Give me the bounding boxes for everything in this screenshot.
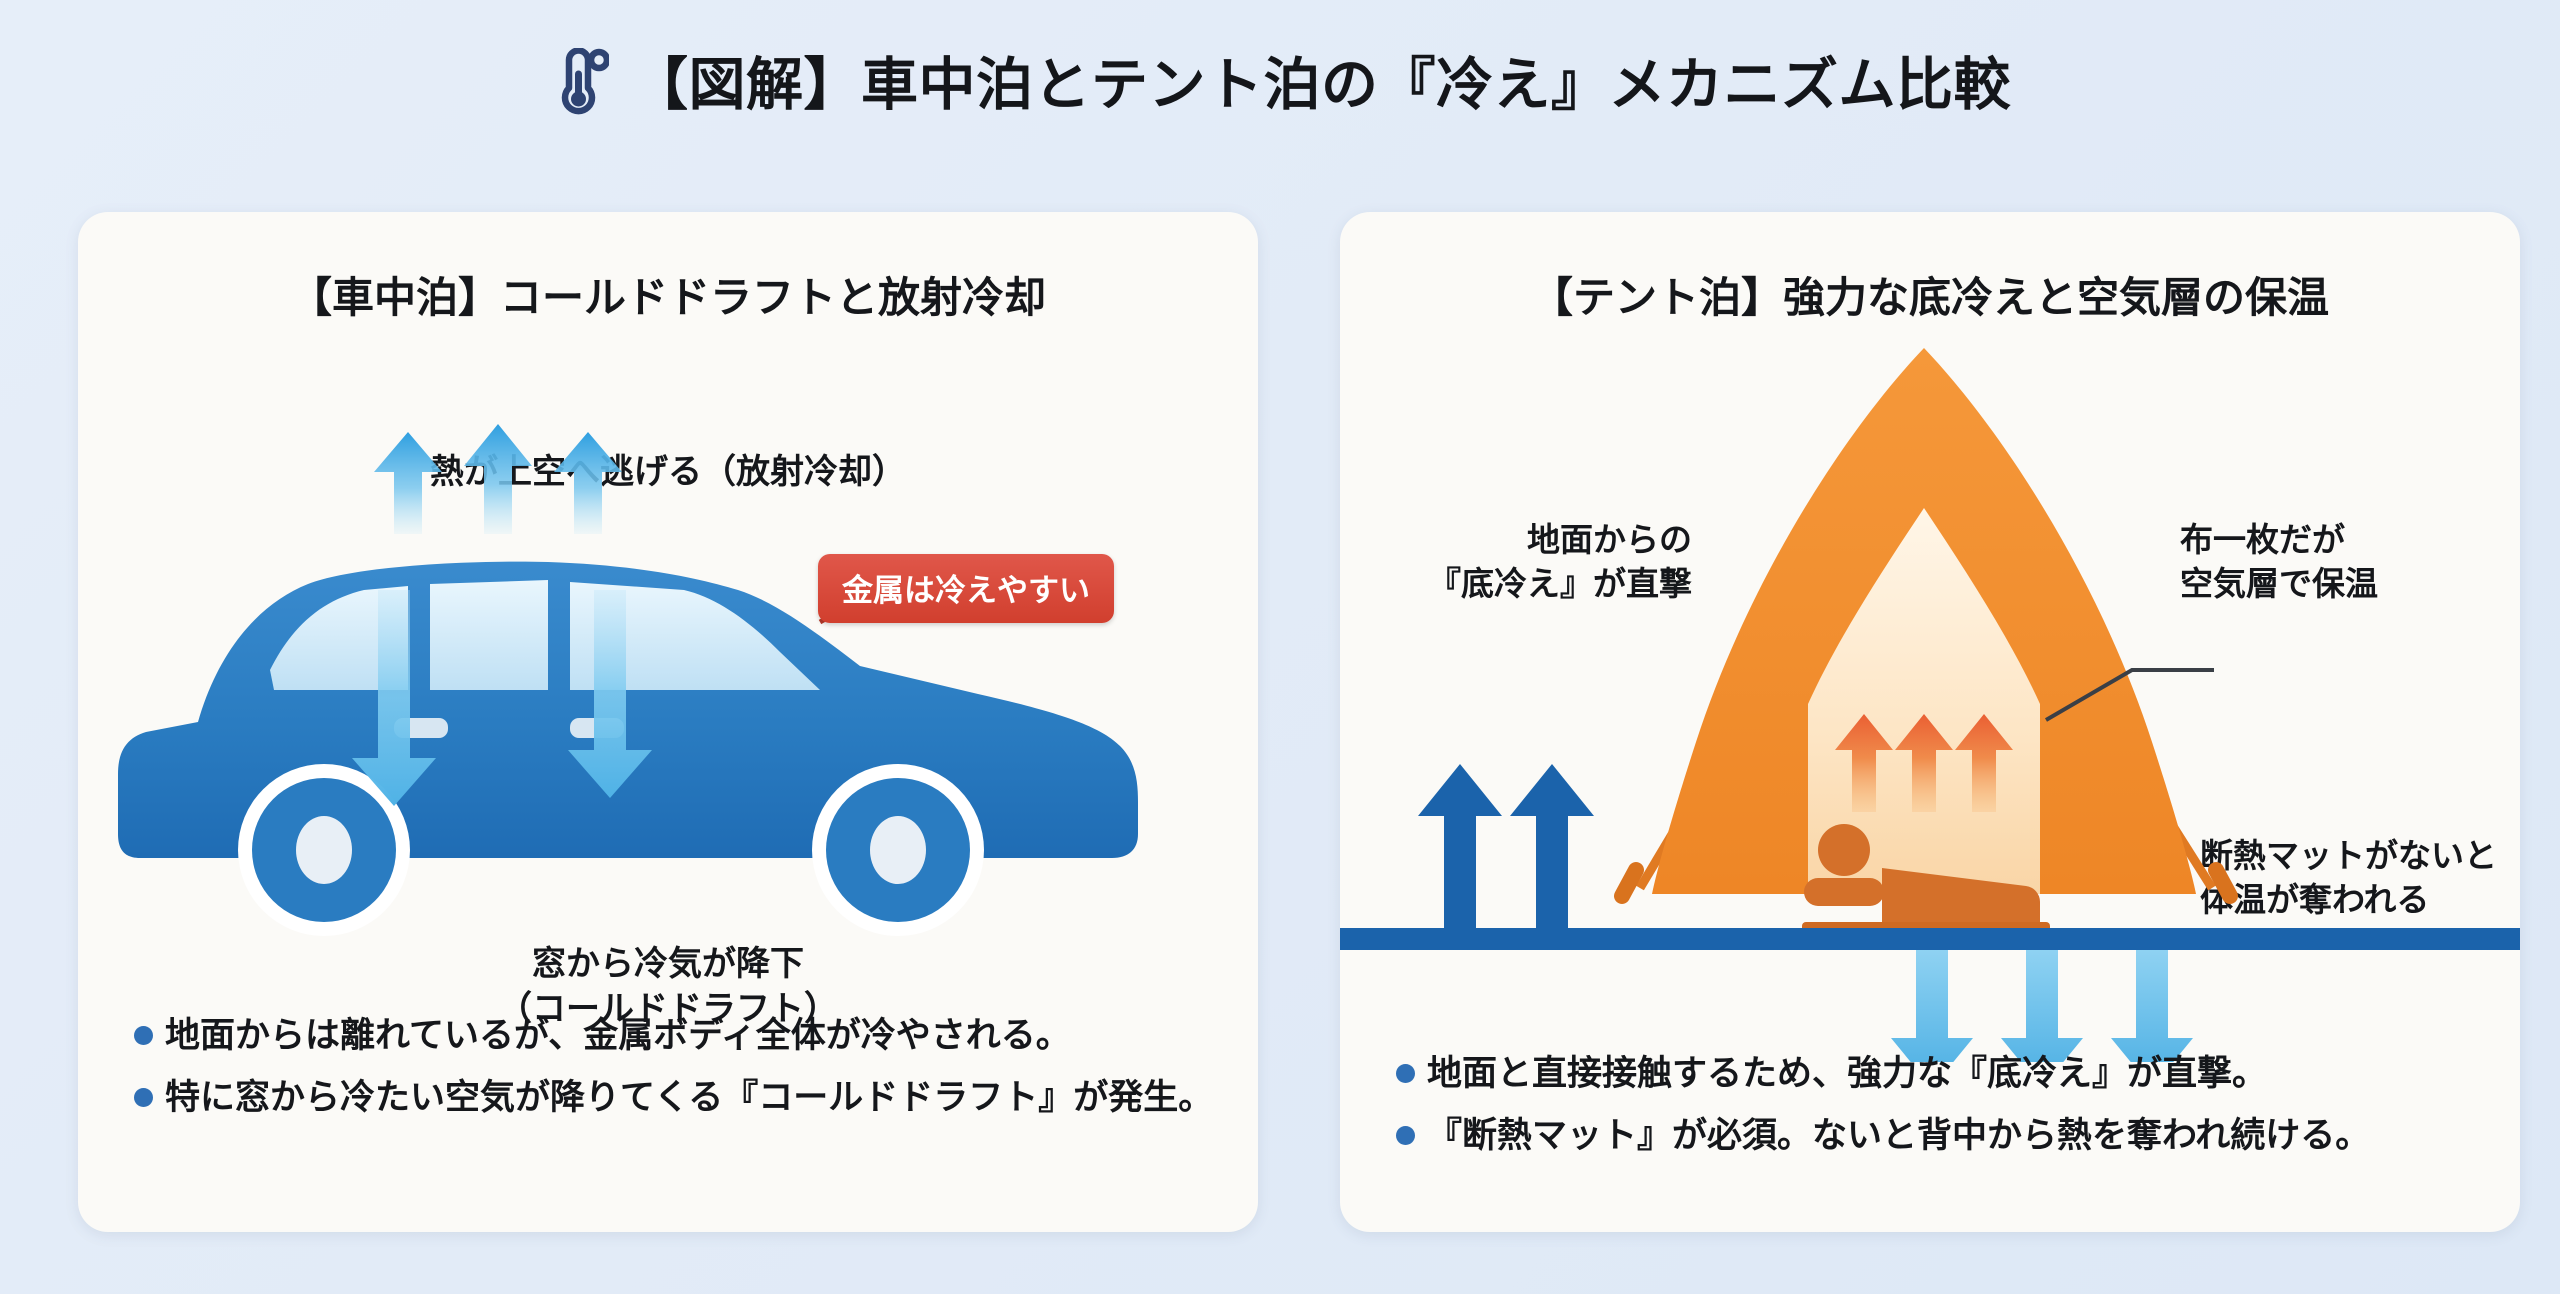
card-car-title: 【車中泊】コールドドラフトと放射冷却 — [78, 264, 1258, 325]
list-item: 特に窓から冷たい空気が降りてくる『コールドドラフト』が発生。 — [134, 1074, 1214, 1122]
heat-escape-arrows — [374, 424, 622, 534]
car-illustration — [78, 322, 1258, 1002]
card-tent-title: 【テント泊】強力な底冷えと空気層の保温 — [1340, 264, 2520, 325]
metal-cools-badge: 金属は冷えやすい — [818, 554, 1114, 623]
bullet-dot-icon — [1396, 1064, 1415, 1083]
tent-bullet-list: 地面と直接接触するため、強力な『底冷え』が直撃。 『断熱マット』が必須。ないと背… — [1396, 1050, 2476, 1173]
tent-illustration — [1340, 322, 2520, 1062]
list-item: 『断熱マット』が必須。ないと背中から熱を奪われ続ける。 — [1396, 1112, 2476, 1160]
bullet-text: 『断熱マット』が必須。ないと背中から熱を奪われ続ける。 — [1427, 1112, 2370, 1160]
tent-peg-right — [2216, 870, 2230, 896]
car-bullet-list: 地面からは離れているが、金属ボディ全体が冷やされる。 特に窓から冷たい空気が降り… — [134, 1012, 1214, 1135]
infographic-page: 【図解】車中泊とテント泊の『冷え』メカニズム比較 【車中泊】コールドドラフトと放… — [0, 0, 2560, 1294]
list-item: 地面と直接接触するため、強力な『底冷え』が直撃。 — [1396, 1050, 2476, 1098]
tent-peg-left — [1622, 870, 1636, 896]
warm-air-arrows — [1835, 714, 2013, 812]
tent-cold-diagram: 地面からの 『底冷え』が直撃 布一枚だが 空気層で保温 断熱マットがないと 体温… — [1340, 322, 2520, 1062]
ground-chill-arrows — [1418, 764, 1594, 928]
bullet-dot-icon — [134, 1026, 153, 1045]
list-item: 地面からは離れているが、金属ボディ全体が冷やされる。 — [134, 1012, 1214, 1060]
car-cold-diagram: 熱が上空へ逃げる（放射冷却） — [78, 322, 1258, 1002]
page-title: 【図解】車中泊とテント泊の『冷え』メカニズム比較 — [631, 54, 2011, 117]
bullet-text: 特に窓から冷たい空気が降りてくる『コールドドラフト』が発生。 — [165, 1074, 1213, 1122]
bullet-dot-icon — [134, 1088, 153, 1107]
card-tent: 【テント泊】強力な底冷えと空気層の保温 地面からの 『底冷え』が直撃 布一枚だが… — [1340, 212, 2520, 1232]
page-title-row: 【図解】車中泊とテント泊の『冷え』メカニズム比較 — [0, 48, 2560, 123]
bullet-text: 地面と直接接触するため、強力な『底冷え』が直撃。 — [1427, 1050, 2267, 1098]
thermometer-icon — [549, 48, 609, 123]
bullet-text: 地面からは離れているが、金属ボディ全体が冷やされる。 — [165, 1012, 1071, 1060]
card-car: 【車中泊】コールドドラフトと放射冷却 熱が上空へ逃げる（放射冷却） — [78, 212, 1258, 1232]
bullet-dot-icon — [1396, 1126, 1415, 1145]
heat-loss-arrows — [1891, 950, 2193, 1062]
ground-line — [1340, 928, 2520, 950]
